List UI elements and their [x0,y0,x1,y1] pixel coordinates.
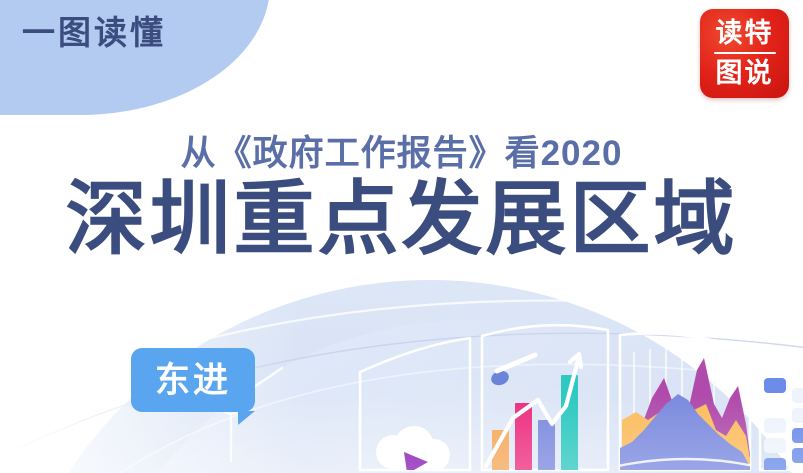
seal-bottom-text: 图说 [708,57,781,89]
seal-divider [714,52,776,55]
page-title: 深圳重点发展区域 [0,178,803,263]
section-badge-tail [238,411,255,425]
section-badge: 东进 [131,348,255,412]
eyebrow-label: 一图读懂 [22,12,166,53]
subtitle: 从《政府工作报告》看2020 [0,125,803,176]
infographic-header: 一图读懂 读特 图说 从《政府工作报告》看2020 深圳重点发展区域 东进 [0,0,803,473]
section-badge-body: 东进 [131,348,255,412]
seal-top-text: 读特 [708,18,781,50]
section-badge-label: 东进 [155,363,231,398]
brand-seal-logo: 读特 图说 [700,9,789,98]
